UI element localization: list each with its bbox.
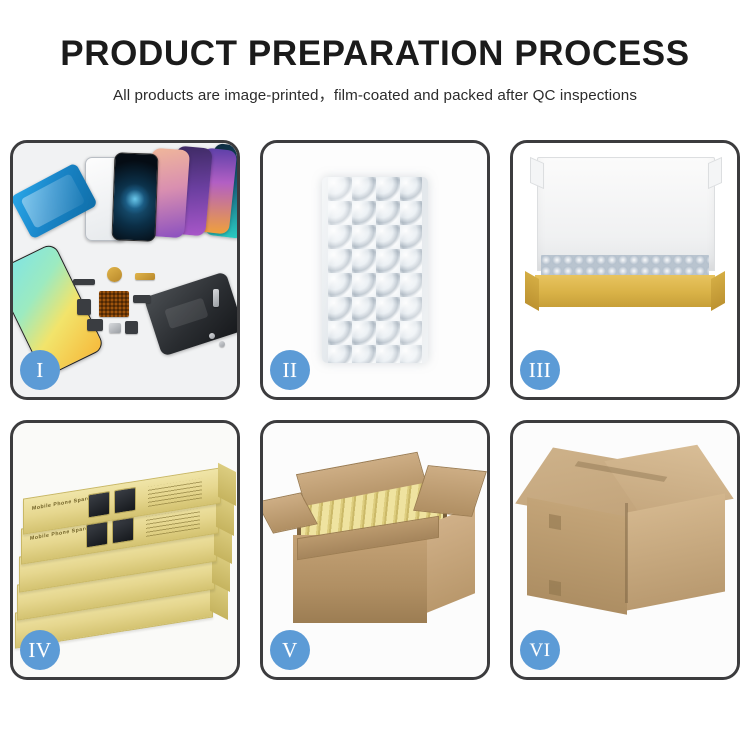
process-step-panel-6: VI: [510, 420, 740, 680]
process-step-panel-4: Mobile Phone Spare Parts Mobile Phone Sp…: [10, 420, 240, 680]
flex-cable-shape: [73, 279, 95, 285]
step-badge-6: VI: [520, 630, 560, 670]
screw-shape: [209, 333, 215, 339]
bubble-wrap-package-shape: [322, 177, 428, 363]
process-step-panel-2: II: [260, 140, 490, 400]
mailer-lid-shape: [537, 157, 715, 271]
step-badge-5: V: [270, 630, 310, 670]
process-step-panel-5: V: [260, 420, 490, 680]
product-preparation-infographic: PRODUCT PREPARATION PROCESS All products…: [0, 0, 750, 750]
metal-bracket-shape: [109, 323, 121, 333]
black-display-shape: [111, 152, 158, 241]
step-badge-1: I: [20, 350, 60, 390]
carton-corner-edge: [625, 503, 628, 603]
process-step-panel-3: III: [510, 140, 740, 400]
step-badge-2: II: [270, 350, 310, 390]
carton-flap-seam: [549, 514, 561, 530]
step-badge-4: IV: [20, 630, 60, 670]
process-step-grid: I II III: [10, 140, 740, 680]
button-part-shape: [87, 319, 103, 331]
page-subtitle: All products are image-printed，film-coat…: [0, 74, 750, 105]
header: PRODUCT PREPARATION PROCESS All products…: [0, 0, 750, 105]
box-stack-shape: Mobile Phone Spare Parts Mobile Phone Sp…: [13, 447, 237, 631]
carton-right-face-shape: [627, 493, 725, 610]
camera-module-shape: [77, 299, 91, 315]
tool-shape: [213, 289, 219, 307]
page-title: PRODUCT PREPARATION PROCESS: [0, 0, 750, 74]
ribbon-cable-shape: [133, 295, 151, 303]
taptic-engine-shape: [125, 321, 138, 334]
speaker-part-shape: [107, 267, 122, 282]
gold-connector-shape: [135, 273, 155, 280]
step-badge-3: III: [520, 350, 560, 390]
process-step-panel-1: I: [10, 140, 240, 400]
carton-left-face-shape: [527, 497, 627, 614]
screw-shape: [219, 341, 225, 347]
carton-flap-seam: [549, 580, 561, 596]
mailer-base-shape: [535, 275, 715, 307]
logic-board-shape: [99, 291, 129, 317]
plastic-sheen: [322, 177, 428, 363]
